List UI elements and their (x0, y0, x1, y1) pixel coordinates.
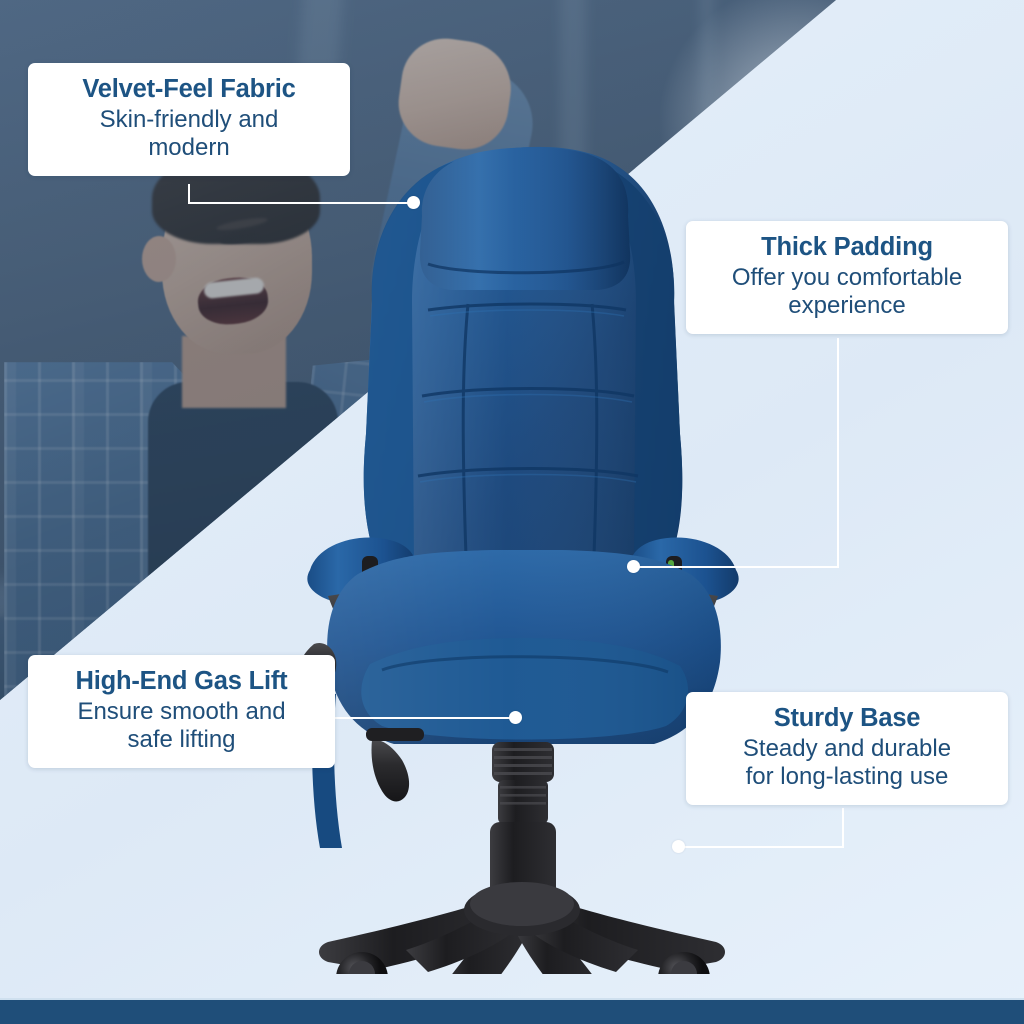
callout-high-end-gas-lift[interactable]: High-End Gas Lift Ensure smooth and safe… (28, 655, 335, 768)
connector-padding-horizontal (633, 566, 839, 568)
connector-base-horizontal (678, 846, 844, 848)
callout-description-line-2: for long-lasting use (704, 763, 990, 791)
callout-description-line-2: experience (704, 292, 990, 320)
callout-title: Thick Padding (704, 233, 990, 262)
footer-bar (0, 1000, 1024, 1024)
callout-description-line-2: modern (46, 134, 332, 162)
connector-velvet-vertical (188, 184, 190, 204)
infographic-canvas: Velvet-Feel Fabric Skin-friendly and mod… (0, 0, 1024, 1024)
callout-sturdy-base[interactable]: Sturdy Base Steady and durable for long-… (686, 692, 1008, 805)
callout-description: Ensure smooth and safe lifting (46, 698, 317, 754)
connector-gaslift-horizontal (333, 717, 517, 719)
callout-description-line-1: Offer you comfortable (704, 264, 990, 292)
connector-velvet-horizontal (188, 202, 414, 204)
hotspot-dot-gaslift (509, 711, 522, 724)
callout-title: Velvet-Feel Fabric (46, 75, 332, 104)
callout-description: Skin-friendly and modern (46, 106, 332, 162)
connector-base-vertical (842, 808, 844, 848)
hotspot-dot-base (672, 840, 685, 853)
callout-description-line-1: Steady and durable (704, 735, 990, 763)
callout-description-line-1: Skin-friendly and (46, 106, 332, 134)
callout-description: Steady and durable for long-lasting use (704, 735, 990, 791)
connector-padding-vertical (837, 338, 839, 568)
callout-description-line-2: safe lifting (46, 726, 317, 754)
callout-velvet-feel-fabric[interactable]: Velvet-Feel Fabric Skin-friendly and mod… (28, 63, 350, 176)
hotspot-dot-padding (627, 560, 640, 573)
hotspot-dot-velvet (407, 196, 420, 209)
callout-title: High-End Gas Lift (46, 667, 317, 696)
callout-title: Sturdy Base (704, 704, 990, 733)
callout-description: Offer you comfortable experience (704, 264, 990, 320)
callout-thick-padding[interactable]: Thick Padding Offer you comfortable expe… (686, 221, 1008, 334)
callout-description-line-1: Ensure smooth and (46, 698, 317, 726)
